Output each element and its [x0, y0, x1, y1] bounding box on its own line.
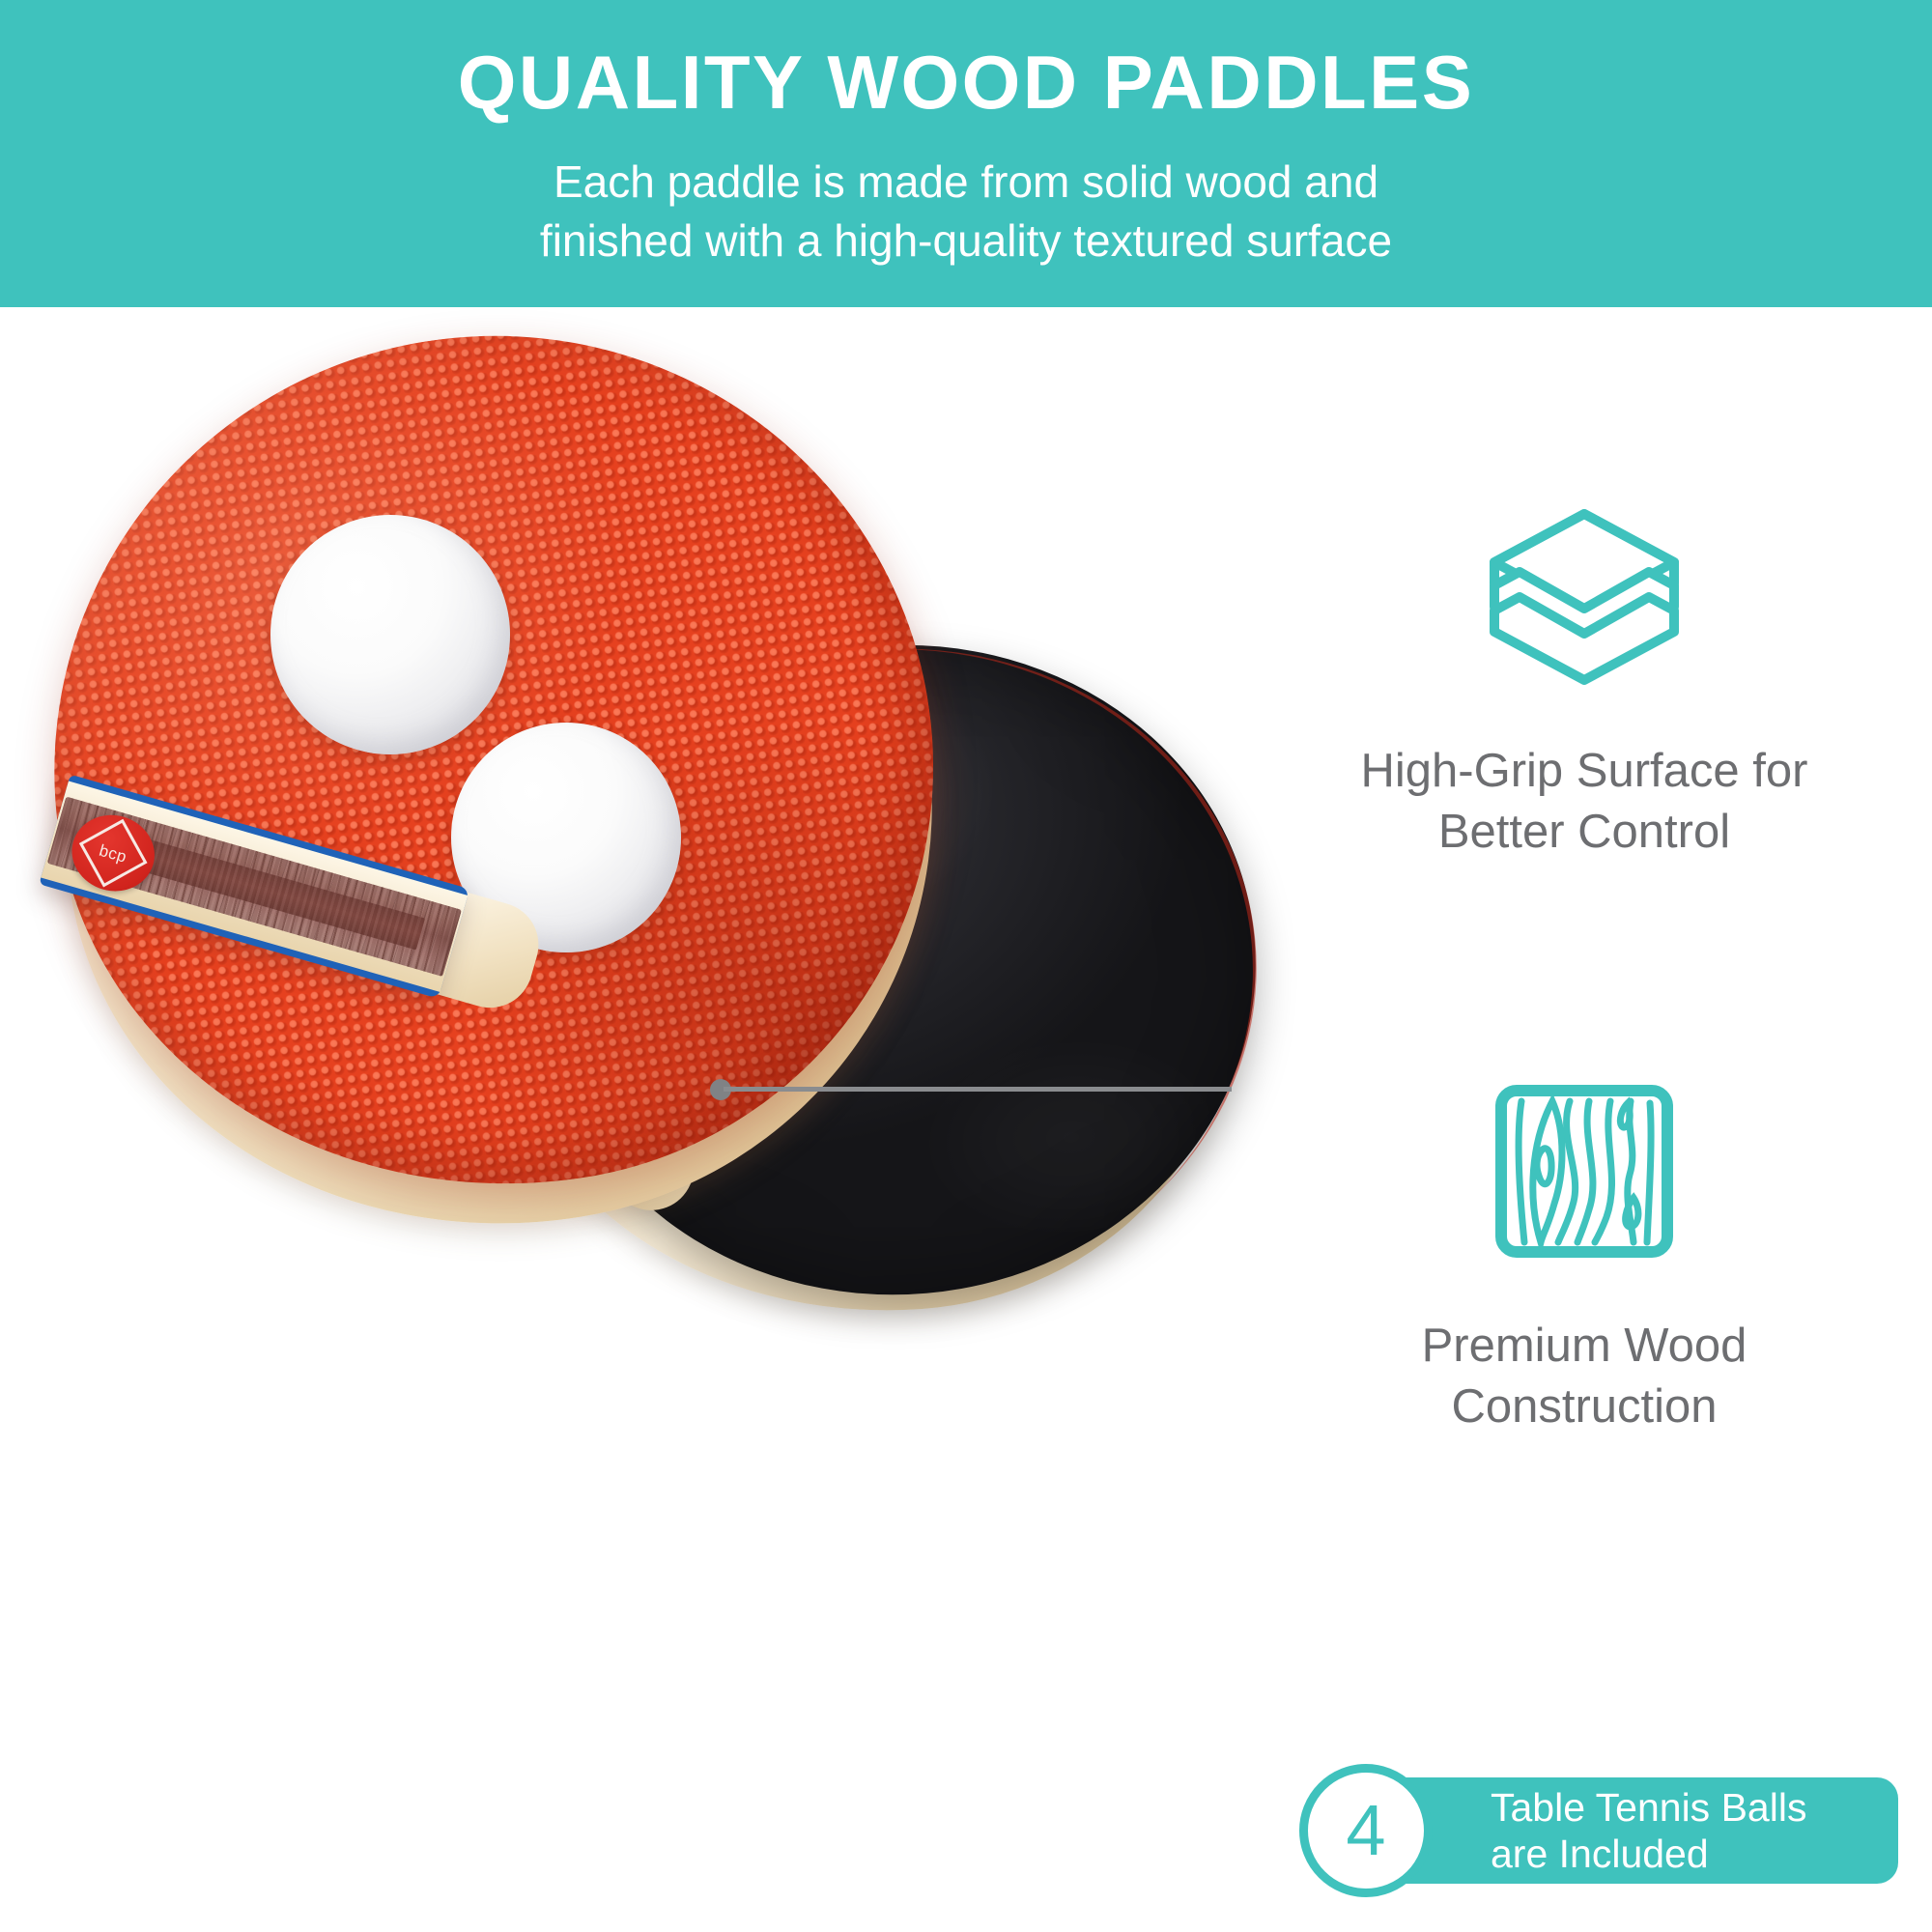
banner-subtitle-line-2: finished with a high-quality textured su… — [540, 212, 1392, 270]
feature-high-grip: High-Grip Surface for Better Control — [1246, 502, 1922, 862]
balls-included-label: Table Tennis Balls are Included — [1491, 1784, 1806, 1878]
feature-premium-wood-label-line-2: Construction — [1422, 1377, 1747, 1437]
banner-subtitle-line-1: Each paddle is made from solid wood and — [540, 153, 1392, 212]
feature-high-grip-label-line-1: High-Grip Surface for — [1361, 741, 1808, 802]
product-image-area: bcp — [0, 307, 1352, 1932]
balls-included-bar: Table Tennis Balls are Included — [1357, 1777, 1898, 1884]
red-paddle — [53, 336, 961, 1235]
balls-included-badge: Table Tennis Balls are Included 4 — [1299, 1777, 1898, 1884]
feature-premium-wood: Premium Wood Construction — [1246, 1082, 1922, 1436]
layered-stack-icon — [1483, 502, 1686, 691]
banner-subtitle: Each paddle is made from solid wood and … — [540, 153, 1392, 270]
balls-included-label-line-2: are Included — [1491, 1831, 1806, 1877]
feature-high-grip-label: High-Grip Surface for Better Control — [1361, 741, 1808, 862]
feature-premium-wood-label-line-1: Premium Wood — [1422, 1316, 1747, 1377]
balls-count-value: 4 — [1346, 1795, 1385, 1866]
page-title: QUALITY WOOD PADDLES — [458, 44, 1474, 120]
feature-high-grip-label-line-2: Better Control — [1361, 802, 1808, 863]
feature-premium-wood-label: Premium Wood Construction — [1422, 1316, 1747, 1436]
brand-logo-text: bcp — [98, 841, 128, 865]
balls-included-label-line-1: Table Tennis Balls — [1491, 1784, 1806, 1831]
brand-logo-diamond: bcp — [79, 819, 148, 888]
table-tennis-ball-top — [270, 515, 510, 754]
callout-leader-line — [710, 1086, 1232, 1094]
header-banner: QUALITY WOOD PADDLES Each paddle is made… — [0, 0, 1932, 307]
wood-grain-icon — [1492, 1082, 1676, 1265]
balls-count-circle: 4 — [1299, 1764, 1433, 1897]
callout-rule — [724, 1087, 1232, 1092]
